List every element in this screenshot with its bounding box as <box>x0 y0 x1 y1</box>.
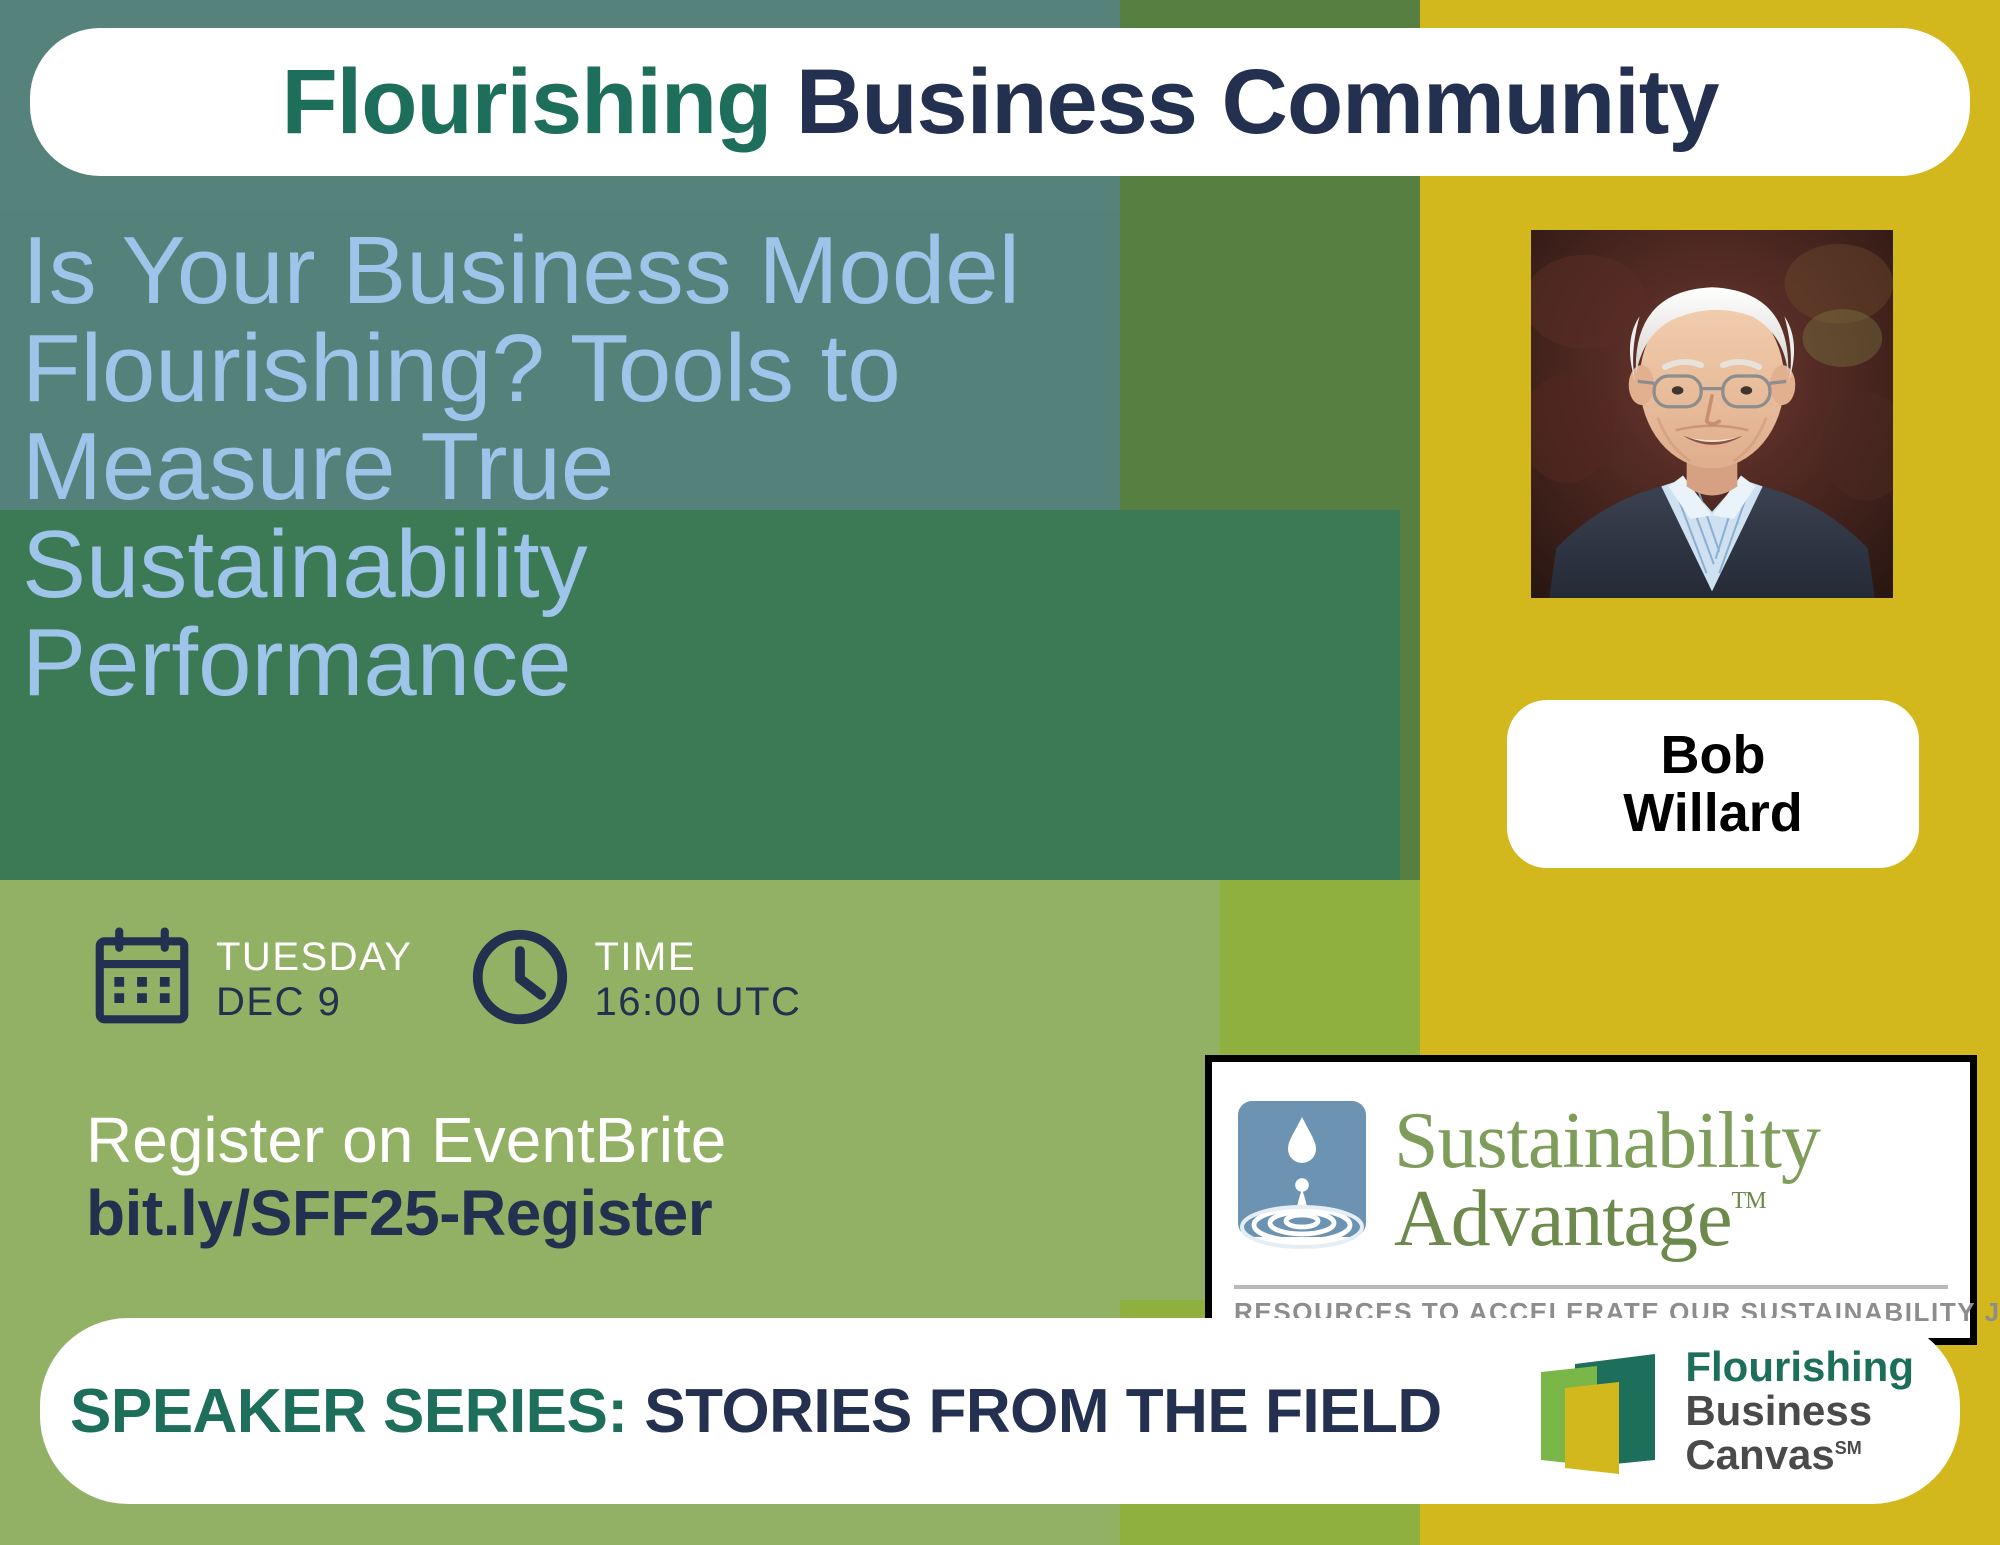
sponsor-word-advantage: AdvantageTM <box>1394 1181 1948 1259</box>
speaker-last-name: Willard <box>1623 784 1803 842</box>
fbc-canvas-text: Canvas <box>1685 1431 1834 1478</box>
avatar <box>1531 230 1893 598</box>
time-text: TIME 16:00 UTC <box>594 935 801 1025</box>
event-poster: Flourishing Business Community Is Your B… <box>0 0 2000 1545</box>
sponsor-word-sustainability: Sustainability <box>1394 1103 1948 1181</box>
registration-block: Register on EventBrite bit.ly/SFF25-Regi… <box>86 1105 726 1250</box>
water-drop-ripple-icon <box>1234 1097 1370 1265</box>
title-business-community: Business Community <box>796 51 1719 153</box>
date-text: TUESDAY DEC 9 <box>216 935 412 1025</box>
page-title: Flourishing Business Community <box>281 56 1718 148</box>
date-item: TUESDAY DEC 9 <box>90 925 412 1034</box>
time-label: TIME <box>594 935 801 980</box>
sponsor-advantage-text: Advantage <box>1394 1181 1732 1259</box>
title-flourishing: Flourishing <box>281 51 771 153</box>
sponsor-logo-card: Sustainability AdvantageTM RESOURCES TO … <box>1205 1055 1977 1345</box>
speaker-name-badge: Bob Willard <box>1507 700 1919 868</box>
fbc-line-canvas: CanvasSM <box>1685 1433 1914 1477</box>
register-link[interactable]: bit.ly/SFF25-Register <box>86 1177 726 1250</box>
fbc-line-flourishing: Flourishing <box>1685 1345 1914 1389</box>
session-title-line-1: Is Your Business Model <box>22 222 1382 320</box>
session-title-line-3: Measure True <box>22 418 1382 516</box>
header-banner: Flourishing Business Community <box>30 28 1970 176</box>
sponsor-wordmark: Sustainability AdvantageTM <box>1394 1103 1948 1258</box>
date-value: DEC 9 <box>216 980 412 1025</box>
fbc-line-business: Business <box>1685 1389 1914 1433</box>
time-item: TIME 16:00 UTC <box>468 925 801 1034</box>
date-label: TUESDAY <box>216 935 412 980</box>
series-prefix: SPEAKER SERIES: <box>70 1377 628 1446</box>
flourishing-business-canvas-icon <box>1531 1348 1667 1474</box>
clock-icon <box>468 925 572 1034</box>
trademark-symbol: TM <box>1732 1187 1766 1216</box>
footer-banner: SPEAKER SERIES: STORIES FROM THE FIELD F… <box>40 1318 1960 1504</box>
flourishing-business-canvas-logo: Flourishing Business CanvasSM <box>1531 1345 1914 1477</box>
session-title-line-2: Flourishing? Tools to <box>22 320 1382 418</box>
sponsor-logo-row: Sustainability AdvantageTM <box>1234 1078 1948 1283</box>
divider <box>1234 1285 1948 1289</box>
flourishing-business-canvas-wordmark: Flourishing Business CanvasSM <box>1685 1345 1914 1477</box>
series-title: SPEAKER SERIES: STORIES FROM THE FIELD <box>70 1376 1531 1447</box>
speaker-first-name: Bob <box>1661 726 1766 784</box>
session-title-line-5: Performance <box>22 614 1382 712</box>
service-mark-symbol: SM <box>1835 1438 1862 1458</box>
time-value: 16:00 UTC <box>594 980 801 1025</box>
series-name: STORIES FROM THE FIELD <box>644 1377 1441 1446</box>
session-title-line-4: Sustainability <box>22 516 1382 614</box>
schedule-row: TUESDAY DEC 9 TIME 16:00 UTC <box>90 925 801 1034</box>
session-title: Is Your Business Model Flourishing? Tool… <box>22 222 1382 712</box>
calendar-icon <box>90 925 194 1034</box>
register-prompt: Register on EventBrite <box>86 1105 726 1177</box>
